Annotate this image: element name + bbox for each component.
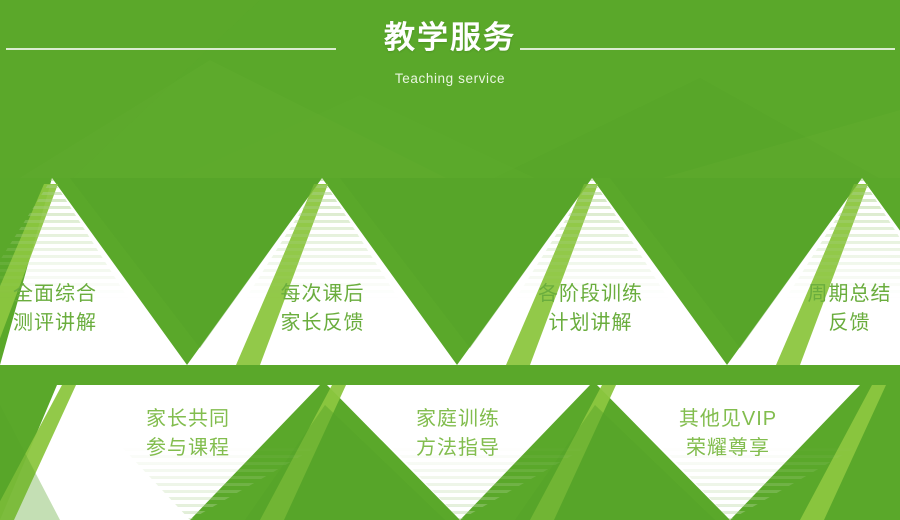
top-row-green-cutter	[0, 178, 900, 365]
bottom-item-1-line2: 参与课程	[108, 434, 268, 463]
bottom-item-2-label: 家庭训练 方法指导	[378, 405, 538, 463]
top-item-1-label: 全面综合 测评讲解	[0, 280, 110, 338]
top-item-4-line2: 反馈	[797, 309, 900, 338]
bottom-item-2-line1: 家庭训练	[378, 405, 538, 434]
teaching-service-banner: 教学服务 Teaching service	[0, 0, 900, 520]
top-item-3-line2: 计划讲解	[523, 309, 658, 338]
top-item-2-line1: 每次课后	[265, 280, 380, 309]
top-item-1-line1: 全面综合	[0, 280, 110, 309]
bottom-item-1-label: 家长共同 参与课程	[108, 405, 268, 463]
page-subtitle: Teaching service	[0, 72, 900, 86]
top-item-3-line1: 各阶段训练	[523, 280, 658, 309]
bottom-item-1-line1: 家长共同	[108, 405, 268, 434]
bottom-item-3-label: 其他见VIP 荣耀尊享	[648, 405, 808, 463]
top-item-1-line2: 测评讲解	[0, 309, 110, 338]
top-item-4-line1: 周期总结	[797, 280, 900, 309]
top-item-4-label: 周期总结 反馈	[797, 280, 900, 338]
top-item-2-label: 每次课后 家长反馈	[265, 280, 380, 338]
top-item-2-line2: 家长反馈	[265, 309, 380, 338]
bottom-item-3-line2: 荣耀尊享	[648, 434, 808, 463]
bottom-item-2-line2: 方法指导	[378, 434, 538, 463]
top-item-3-label: 各阶段训练 计划讲解	[523, 280, 658, 338]
header: 教学服务 Teaching service	[0, 0, 900, 110]
bottom-item-3-line1: 其他见VIP	[648, 405, 808, 434]
mid-green-band	[0, 365, 900, 385]
page-title: 教学服务	[0, 22, 900, 53]
